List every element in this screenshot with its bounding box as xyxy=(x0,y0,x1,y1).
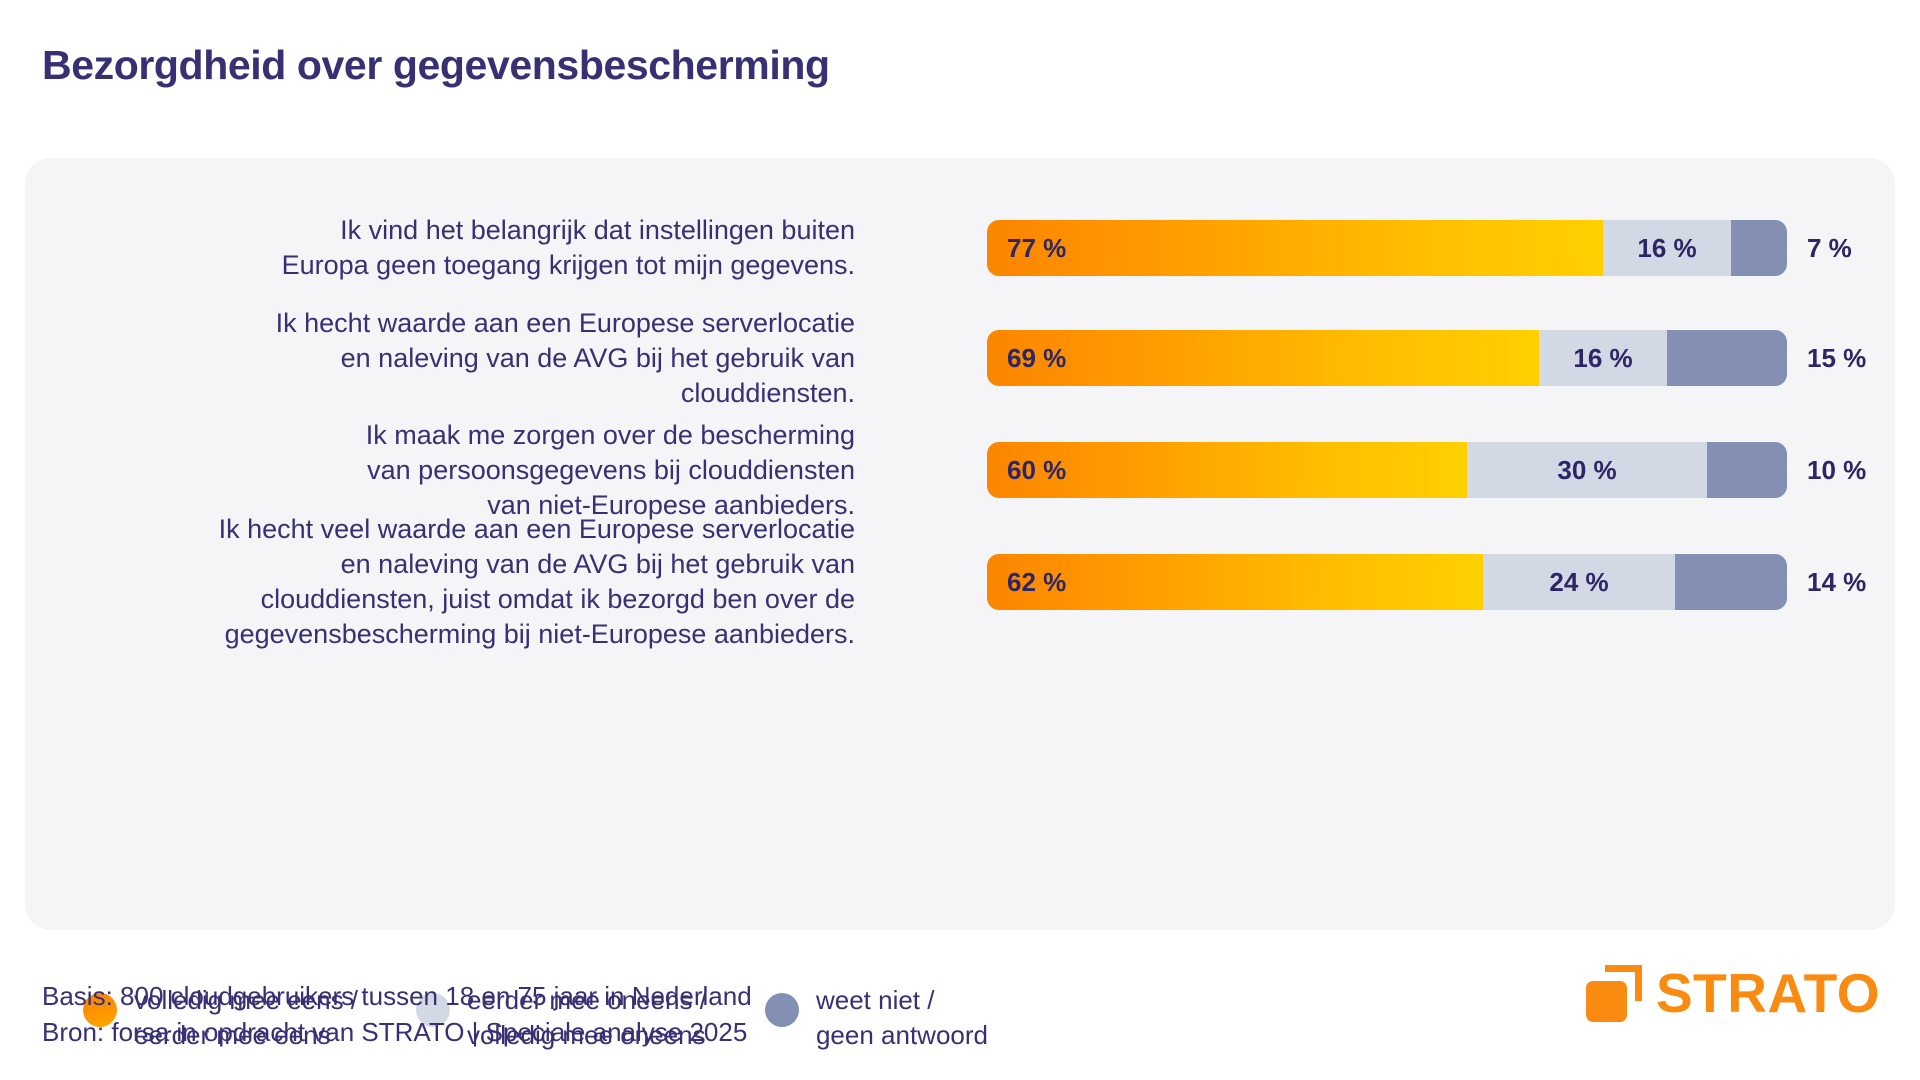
brand-logo: STRATO xyxy=(1586,965,1880,1021)
bar-segment-agree: 69 % xyxy=(987,330,1539,386)
chart-row-label: Ik vind het belangrijk dat instellingen … xyxy=(95,213,855,283)
chart-row-label: Ik hecht veel waarde aan een Europese se… xyxy=(95,512,855,652)
legend-label: weet niet /geen antwoord xyxy=(816,983,988,1053)
stacked-bar: 69 %16 % xyxy=(987,330,1787,386)
stacked-bar: 60 %30 % xyxy=(987,442,1787,498)
bar-outer-value: 10 % xyxy=(1807,442,1866,498)
stacked-bar: 62 %24 % xyxy=(987,554,1787,610)
footer-basis-line: Basis: 800 cloudgebruikers tussen 18 en … xyxy=(42,978,752,1014)
chart-row-label: Ik hecht waarde aan een Europese serverl… xyxy=(95,306,855,411)
infographic-page: Bezorgdheid over gegevensbescherming Ik … xyxy=(0,0,1920,1080)
page-title: Bezorgdheid over gegevensbescherming xyxy=(42,42,830,89)
bar-segment-disagree: 30 % xyxy=(1467,442,1707,498)
bar-outer-value: 7 % xyxy=(1807,220,1852,276)
bar-segment-disagree: 16 % xyxy=(1539,330,1667,386)
footer-source-line: Bron: forsa in opdracht van STRATO | Spe… xyxy=(42,1014,752,1050)
bar-segment-disagree: 16 % xyxy=(1603,220,1731,276)
bar-segment-dontknow xyxy=(1707,442,1787,498)
bar-outer-value: 15 % xyxy=(1807,330,1866,386)
legend-item: weet niet /geen antwoord xyxy=(765,983,988,1053)
brand-name: STRATO xyxy=(1656,966,1880,1021)
bar-segment-disagree: 24 % xyxy=(1483,554,1675,610)
strato-logo-icon xyxy=(1586,965,1642,1021)
bar-segment-agree: 62 % xyxy=(987,554,1483,610)
bar-segment-dontknow xyxy=(1667,330,1787,386)
bar-segment-agree: 77 % xyxy=(987,220,1603,276)
source-footer: Basis: 800 cloudgebruikers tussen 18 en … xyxy=(42,978,752,1050)
legend-dot-icon xyxy=(765,993,799,1027)
chart-card: Ik vind het belangrijk dat instellingen … xyxy=(25,158,1895,930)
bar-segment-agree: 60 % xyxy=(987,442,1467,498)
bar-segment-dontknow xyxy=(1731,220,1787,276)
chart-row-label: Ik maak me zorgen over de beschermingvan… xyxy=(95,418,855,523)
stacked-bar: 77 %16 % xyxy=(987,220,1787,276)
strato-block-shape xyxy=(1586,981,1627,1022)
bar-segment-dontknow xyxy=(1675,554,1787,610)
bar-outer-value: 14 % xyxy=(1807,554,1866,610)
